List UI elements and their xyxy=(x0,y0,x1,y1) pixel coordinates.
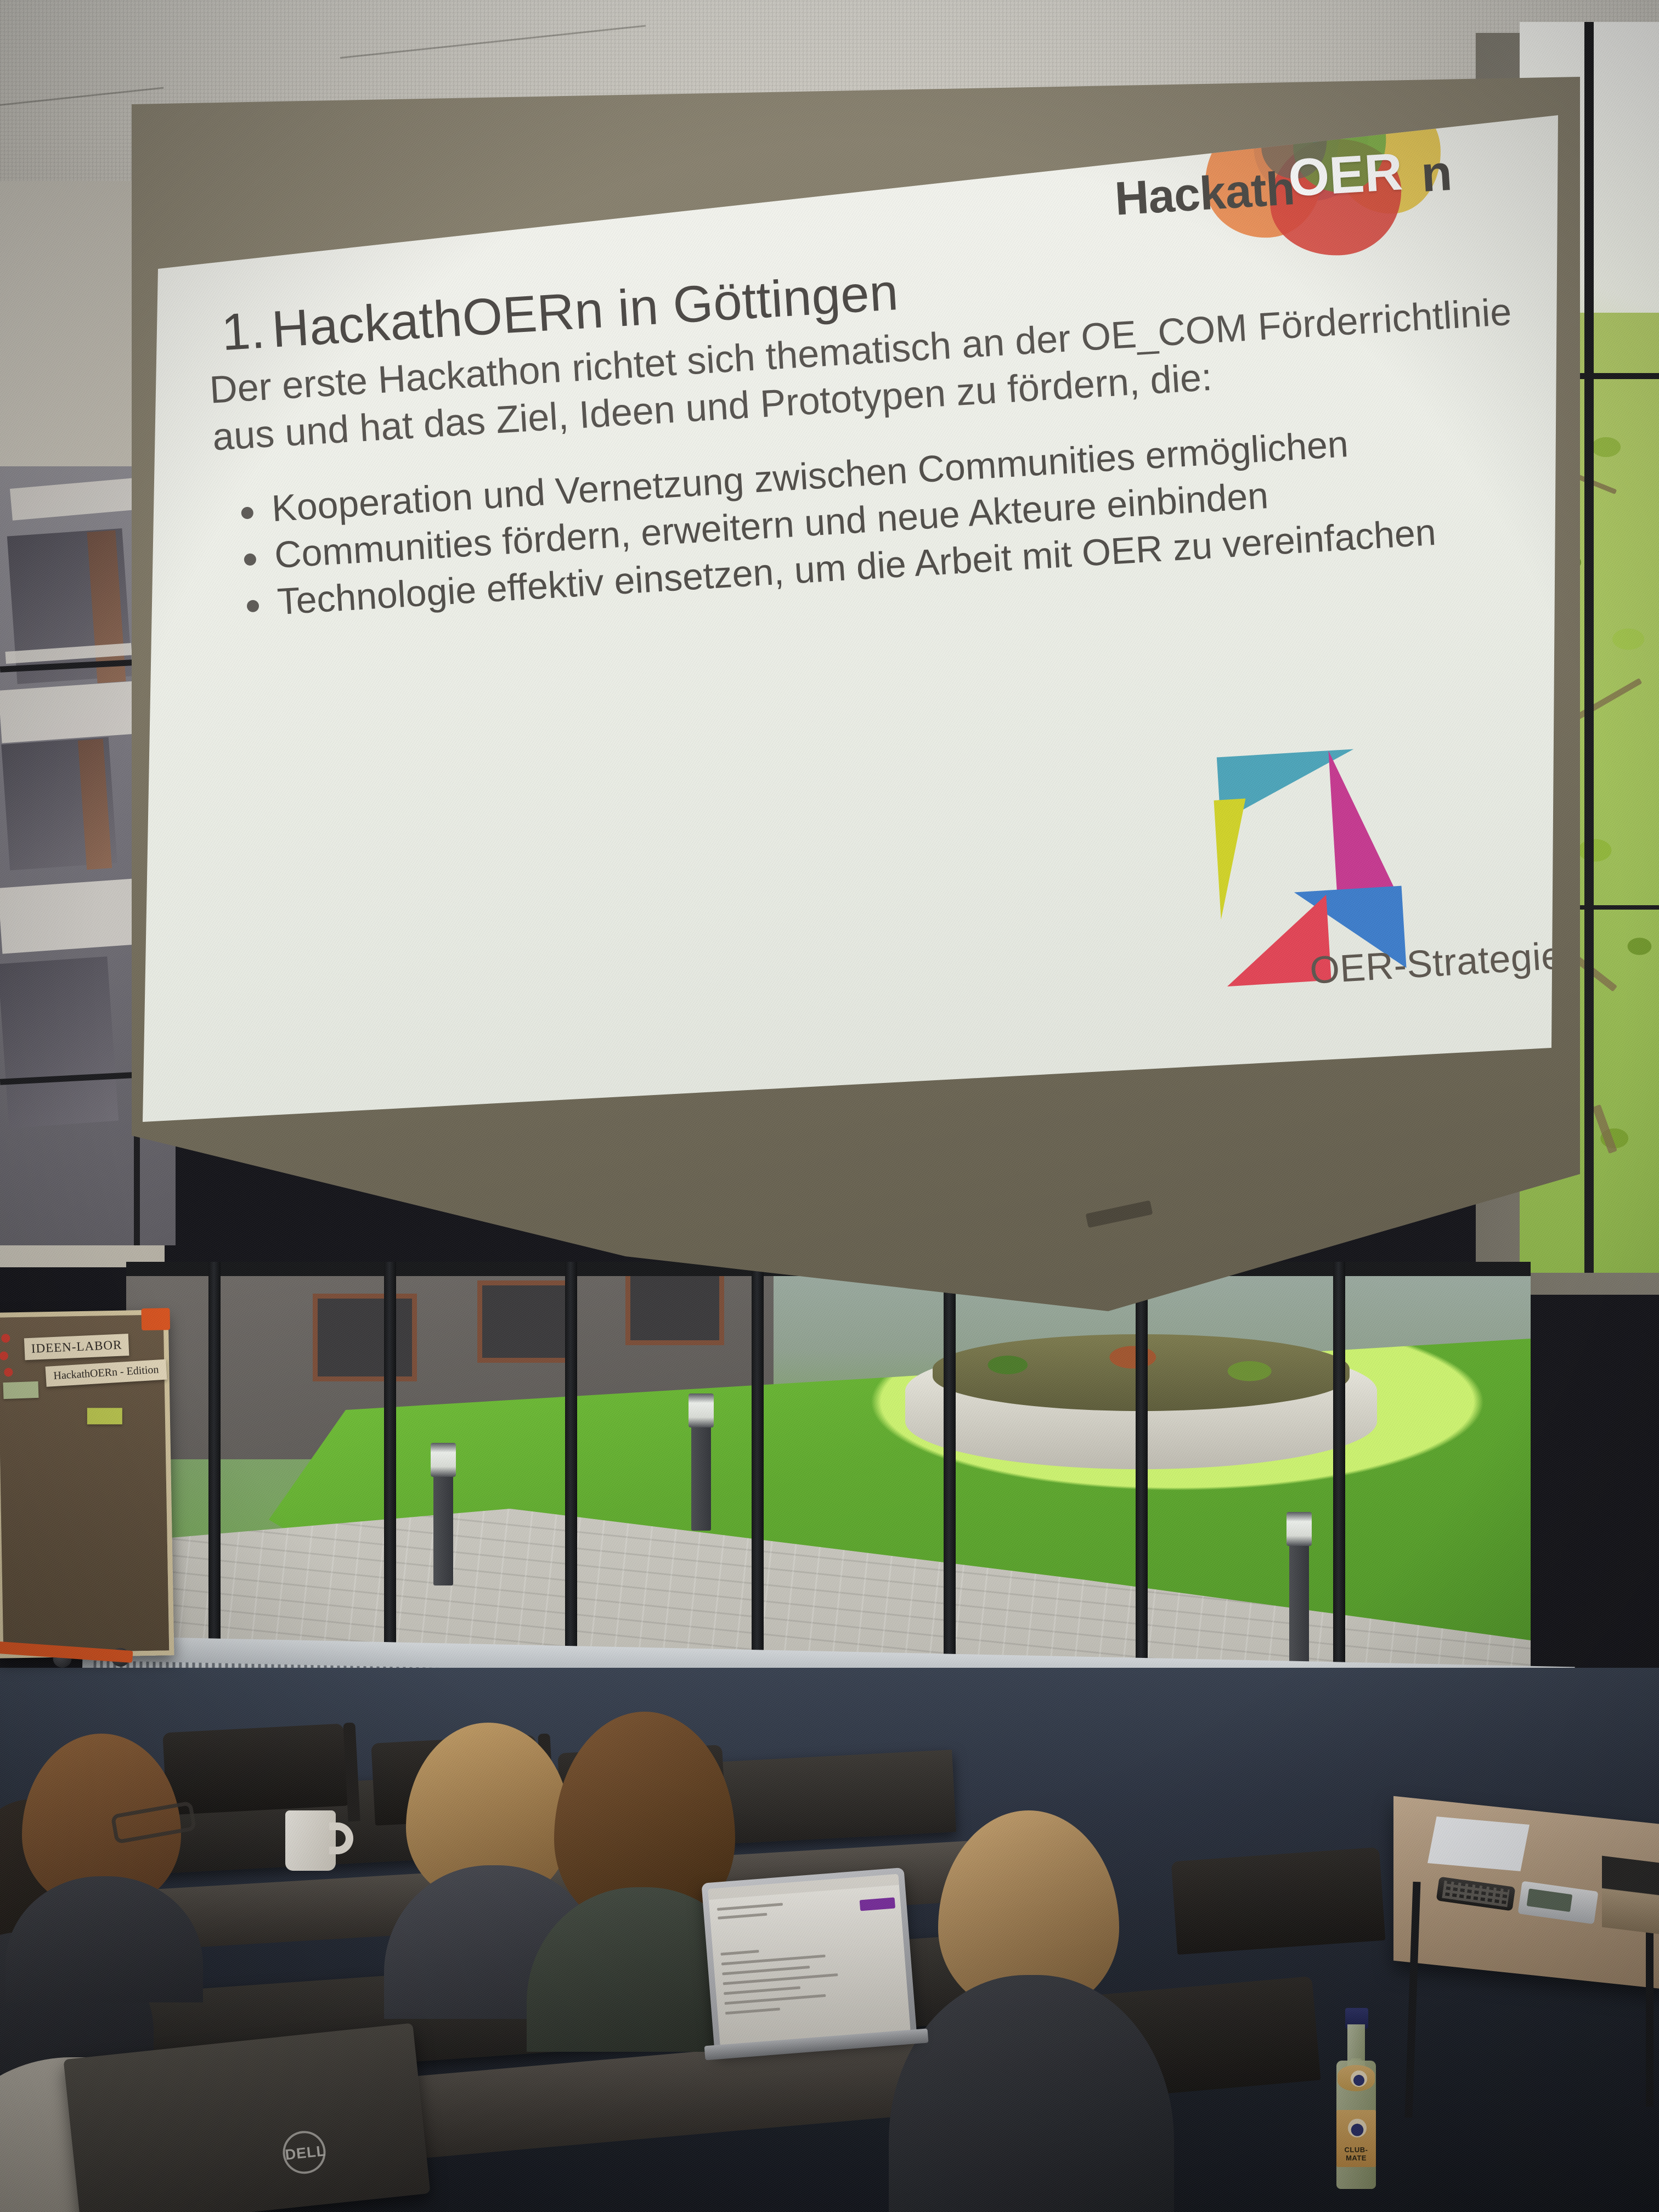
open-laptop[interactable] xyxy=(701,1867,917,2053)
pinboard-corner-clamp xyxy=(141,1308,170,1330)
seat-back xyxy=(1171,1847,1386,1955)
sticky-note xyxy=(87,1408,122,1424)
bottle-label: CLUB-MATE xyxy=(1336,2110,1376,2167)
desk-equipment-box xyxy=(1602,1856,1659,1936)
oer-strategie-logo: OER-Strategie xyxy=(1203,720,1503,995)
bollard-light xyxy=(433,1443,453,1585)
logo-text-oer: OER xyxy=(1286,142,1404,208)
projection-screen: 1.HackathOERn in Göttingen Der erste Hac… xyxy=(132,77,1580,1404)
projected-slide: 1.HackathOERn in Göttingen Der erste Hac… xyxy=(143,115,1558,1125)
sticky-note xyxy=(3,1381,38,1399)
pinboard: IDEEN-LABOR HackathOERn - Edition xyxy=(0,1310,174,1658)
pinboard-note-title: IDEEN-LABOR xyxy=(24,1334,129,1360)
bottle-brand-text: CLUB-MATE xyxy=(1336,2146,1376,2162)
logo-text-suffix: n xyxy=(1419,144,1453,204)
laptop-screen xyxy=(708,1874,911,2046)
paper-sheet xyxy=(1427,1816,1530,1871)
lecture-hall-photo: 1.HackathOERn in Göttingen Der erste Hac… xyxy=(0,0,1659,2212)
logo-text-prefix: Hackath xyxy=(1113,161,1296,227)
bollard-light xyxy=(1289,1512,1309,1677)
seat-back xyxy=(162,1723,347,1815)
dell-logo: DELL xyxy=(281,2129,328,2176)
logo-triangle-magenta xyxy=(1328,747,1397,899)
bollard-light xyxy=(691,1393,711,1531)
club-mate-bottle: CLUB-MATE xyxy=(1333,2008,1379,2189)
pinboard-note-subtitle: HackathOERn - Edition xyxy=(46,1359,167,1387)
slide-number: 1. xyxy=(220,300,274,362)
coffee-mug xyxy=(285,1810,336,1871)
